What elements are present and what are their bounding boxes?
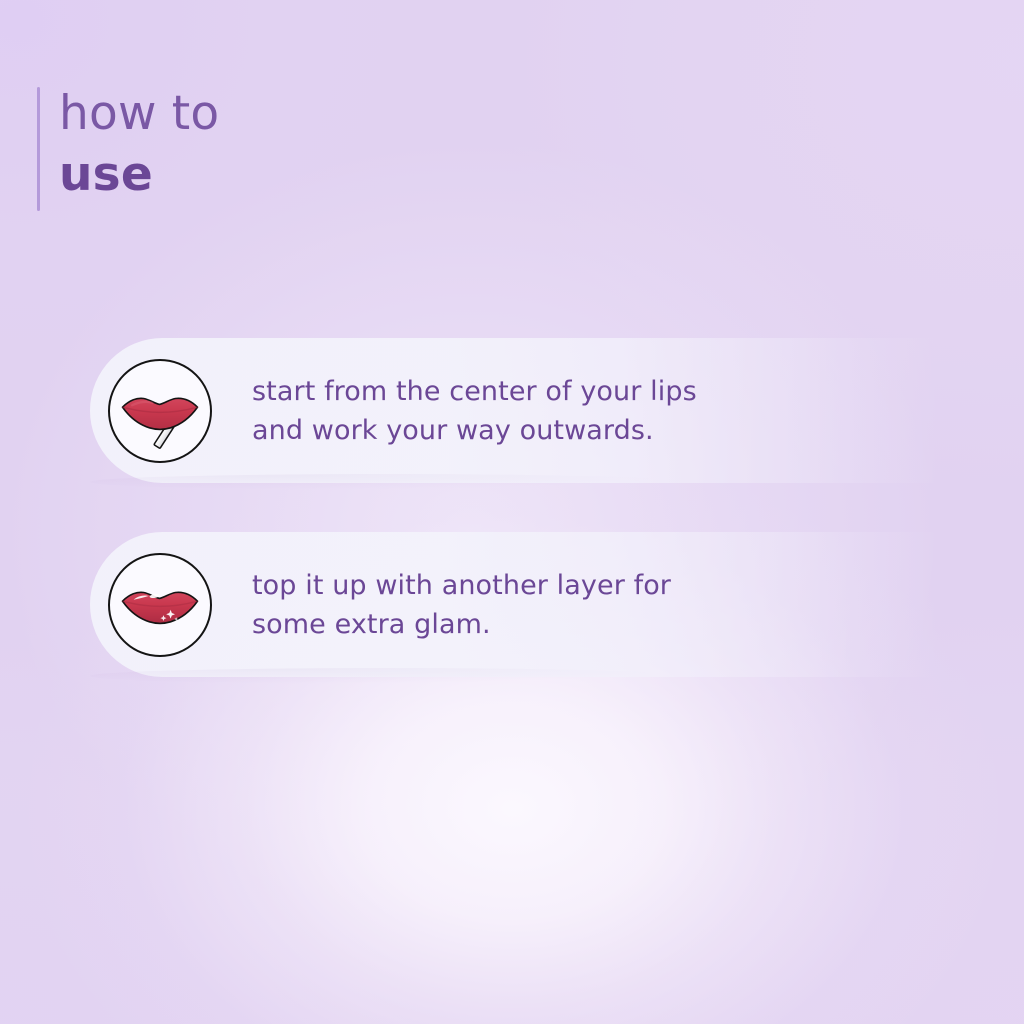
step-text-2: top it up with another layer for some ex…: [252, 566, 671, 644]
poster-canvas: how to use: [0, 0, 1024, 1024]
step-text-1: start from the center of your lips and w…: [252, 372, 697, 450]
glossy-lips-icon: [108, 553, 212, 657]
title-line-how-to: how to: [59, 84, 219, 144]
step-card-2: top it up with another layer for some ex…: [90, 532, 940, 677]
title-text-block: how to use: [59, 84, 219, 211]
page-title: how to use: [37, 84, 219, 211]
step-card-1: start from the center of your lips and w…: [90, 338, 940, 483]
steps-list: start from the center of your lips and w…: [90, 338, 940, 726]
title-accent-rule: [37, 87, 40, 211]
lips-with-applicator-icon: [108, 359, 212, 463]
title-line-use: use: [59, 144, 219, 206]
